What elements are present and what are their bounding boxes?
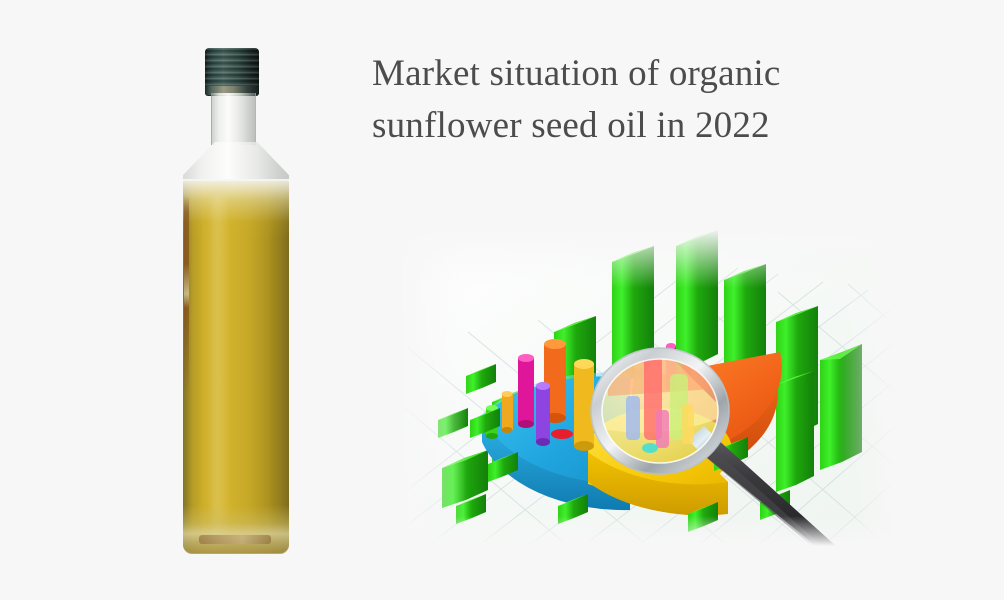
oil-bottle-image xyxy=(181,46,293,556)
page-title-line-2: sunflower seed oil in 2022 xyxy=(372,100,892,152)
bottle-neck xyxy=(211,93,256,145)
bar-item xyxy=(776,371,814,492)
cylinder-item xyxy=(536,382,550,446)
cylinder-item xyxy=(518,354,534,428)
poster-canvas: Market situation of organic sunflower se… xyxy=(0,0,1004,600)
bottle-highlight xyxy=(207,196,229,546)
analytics-illustration xyxy=(398,228,898,546)
bottle-base xyxy=(183,506,289,554)
page-title-line-1: Market situation of organic xyxy=(372,48,892,100)
cylinder-item xyxy=(502,391,514,433)
bottle-left-edge-reflection xyxy=(184,196,189,396)
page-title: Market situation of organic sunflower se… xyxy=(372,48,892,152)
bottle-base-line xyxy=(199,535,271,544)
bottle-oil-surface xyxy=(183,179,289,239)
red-disc xyxy=(551,429,573,439)
